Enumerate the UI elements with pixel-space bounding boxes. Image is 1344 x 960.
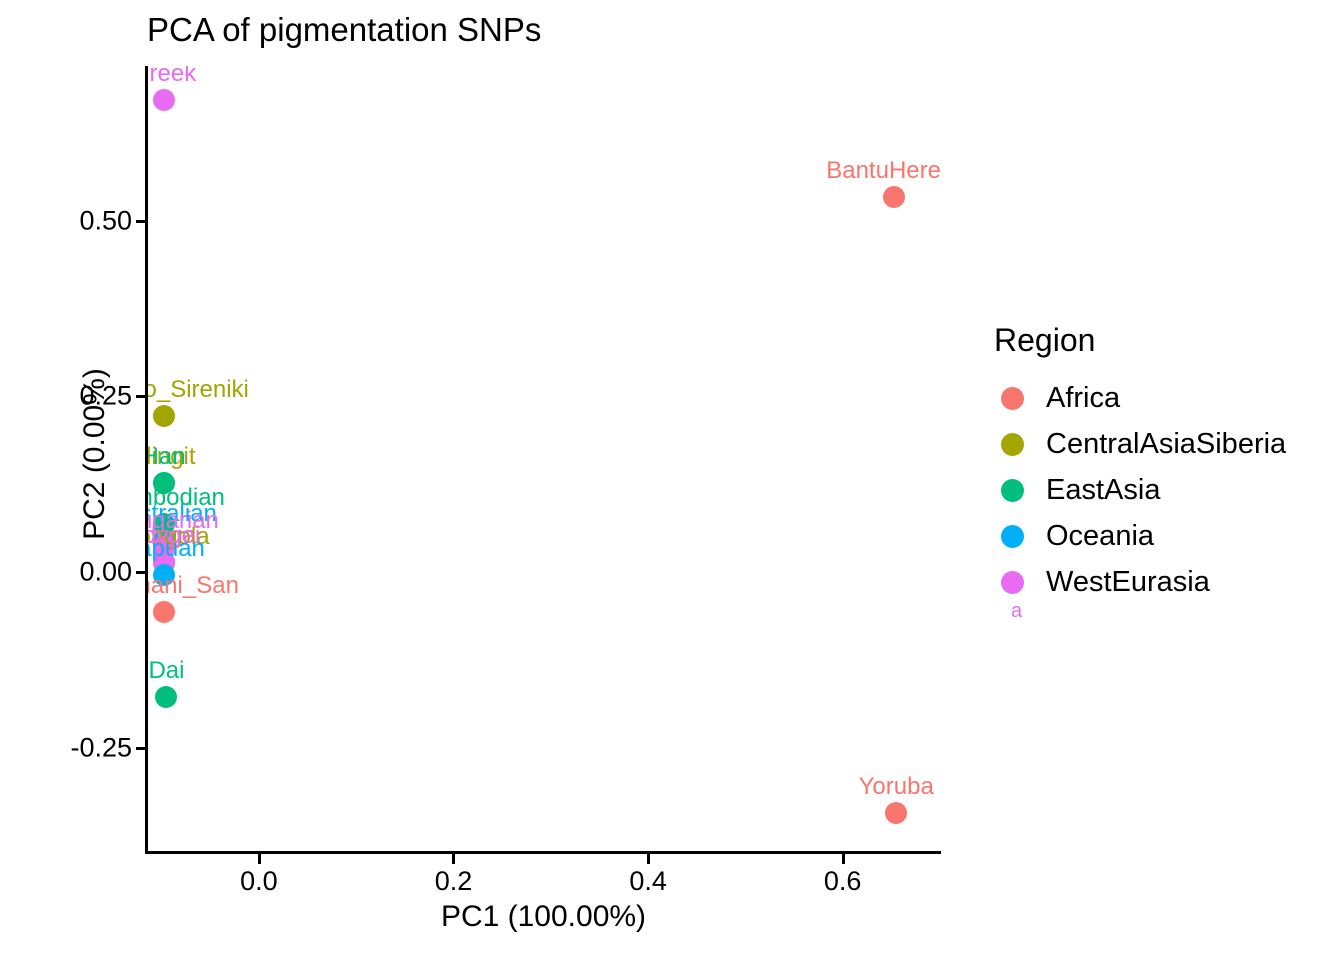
legend-stray-glyph: a (1011, 601, 1022, 621)
point-label: Khomani_San (147, 574, 239, 598)
x-tick-mark (258, 854, 261, 864)
x-axis-title: PC1 (100.00%) (147, 900, 940, 934)
legend-key (990, 571, 1034, 594)
y-tick-mark (136, 395, 146, 398)
x-tick-mark (452, 854, 455, 864)
y-tick-mark (136, 747, 146, 750)
legend-dot-icon (1001, 479, 1024, 502)
plot-panel: GreekBantuHereroEskimo_SirenikiTlingitHa… (147, 66, 940, 853)
data-point (153, 601, 175, 623)
legend-item[interactable]: Oceania (990, 513, 1286, 559)
data-point (153, 89, 175, 111)
legend-dot-icon (1001, 525, 1024, 548)
legend-key (990, 433, 1034, 456)
legend-item-label: Oceania (1046, 520, 1154, 553)
legend-item-label: WestEurasia (1046, 566, 1210, 599)
data-point (883, 186, 905, 208)
legend-key (990, 479, 1034, 502)
legend-item-label: Africa (1046, 382, 1120, 415)
point-label: Yoruba (859, 775, 934, 799)
page-title: PCA of pigmentation SNPs (147, 13, 541, 46)
legend-dot-icon (1001, 387, 1024, 410)
legend-dot-icon (1001, 571, 1024, 594)
x-tick-mark (647, 854, 650, 864)
point-label: Dai (148, 659, 184, 683)
data-point (155, 686, 177, 708)
data-point (885, 802, 907, 824)
data-point (153, 405, 175, 427)
y-tick-mark (136, 571, 146, 574)
x-tick-label: 0.6 (824, 866, 862, 897)
legend-item-label: CentralAsiaSiberia (1046, 428, 1286, 461)
legend-item[interactable]: WestEurasia (990, 559, 1286, 605)
y-axis-title: PC2 (0.00%) (78, 104, 112, 804)
legend-dot-icon (1001, 433, 1024, 456)
legend-items: AfricaCentralAsiaSiberiaEastAsiaOceaniaW… (990, 375, 1286, 605)
x-tick-mark (842, 854, 845, 864)
point-label: Han (147, 445, 186, 469)
x-axis-line (147, 851, 941, 854)
legend-key (990, 525, 1034, 548)
x-tick-label: 0.0 (240, 866, 278, 897)
legend-title: Region (994, 322, 1286, 359)
legend-item-label: EastAsia (1046, 474, 1160, 507)
x-tick-label: 0.2 (435, 866, 473, 897)
legend: Region AfricaCentralAsiaSiberiaEastAsiaO… (990, 322, 1286, 605)
legend-key (990, 387, 1034, 410)
point-label: Eskimo_Sireniki (147, 378, 249, 402)
legend-item[interactable]: CentralAsiaSiberia (990, 421, 1286, 467)
legend-item[interactable]: Africa (990, 375, 1286, 421)
y-axis-line (145, 66, 148, 854)
x-tick-label: 0.4 (629, 866, 667, 897)
point-label: Greek (147, 66, 196, 86)
point-label: BantuHerero (826, 159, 940, 183)
y-tick-mark (136, 220, 146, 223)
chart-canvas: PCA of pigmentation SNPs GreekBantuHerer… (0, 0, 1344, 960)
point-label: Papuan (147, 537, 205, 561)
legend-item[interactable]: EastAsia (990, 467, 1286, 513)
